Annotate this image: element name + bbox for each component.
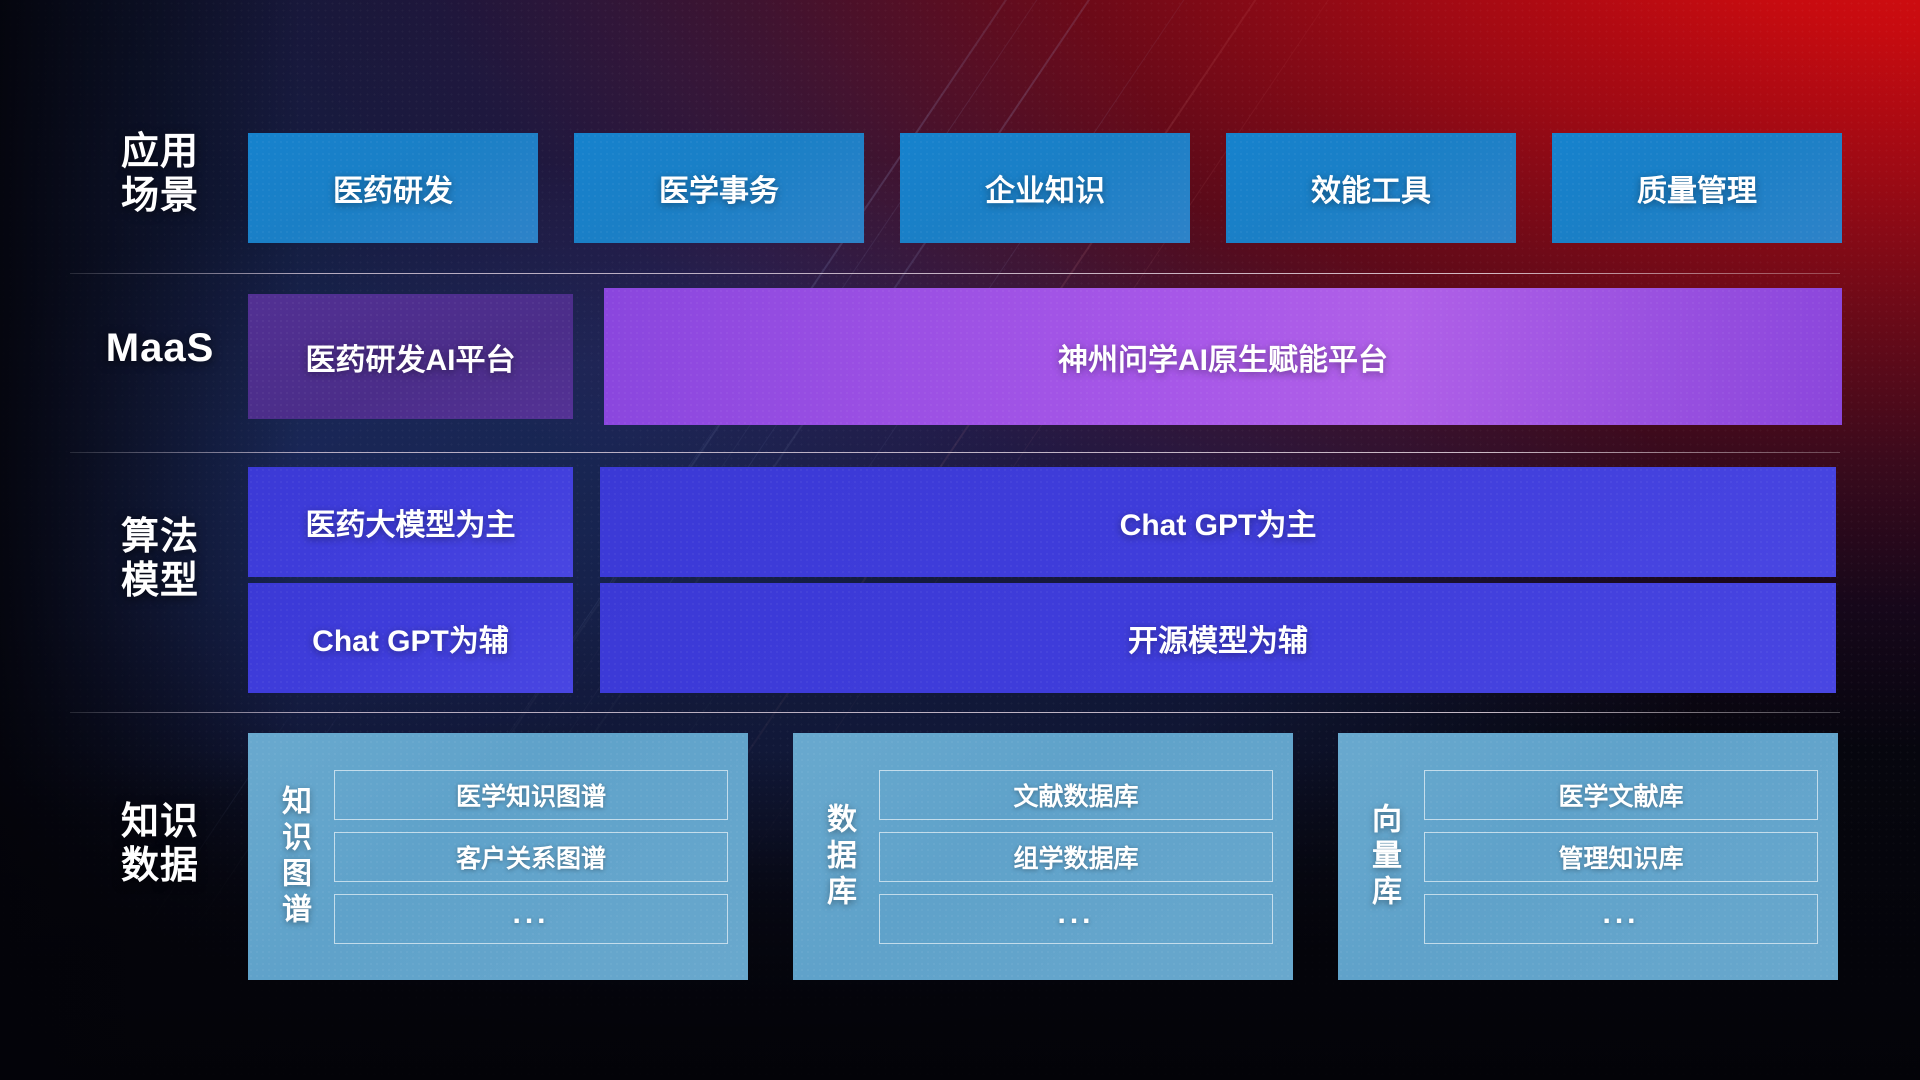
algo-card-chatgpt-secondary[interactable]: Chat GPT为辅 — [248, 583, 573, 693]
app-card-label: 质量管理 — [1637, 166, 1757, 210]
knowledge-item[interactable]: 管理知识库 — [1424, 832, 1818, 882]
algo-card-label: 医药大模型为主 — [306, 500, 516, 544]
app-card-label: 效能工具 — [1311, 166, 1431, 210]
knowledge-group-title: 知识图谱 — [266, 785, 320, 929]
row-label-knowledge-data: 知识 数据 — [70, 800, 250, 888]
row-label-line-1: 知识 — [70, 800, 250, 844]
algo-card-chatgpt-primary[interactable]: Chat GPT为主 — [600, 467, 1836, 577]
divider-after-algorithm — [70, 712, 1840, 713]
knowledge-item[interactable]: 客户关系图谱 — [334, 832, 728, 882]
knowledge-group-title: 数据库 — [811, 803, 865, 911]
knowledge-item[interactable]: 医学文献库 — [1424, 770, 1818, 820]
maas-card-pharma-ai-platform[interactable]: 医药研发AI平台 — [248, 294, 573, 419]
knowledge-group-items: 文献数据库 组学数据库 ... — [879, 770, 1273, 944]
knowledge-group-title: 向量库 — [1356, 803, 1410, 911]
divider-after-application — [70, 273, 1840, 274]
divider-after-maas — [70, 452, 1840, 453]
row-label-line-2: 模型 — [70, 559, 250, 603]
row-label-line-1: MaaS — [70, 325, 250, 371]
slide-canvas: 应用 场景 医药研发 医学事务 企业知识 效能工具 质量管理 MaaS — [0, 0, 1920, 1080]
row-label-line-2: 数据 — [70, 844, 250, 888]
row-label-application-scenarios: 应用 场景 — [70, 130, 250, 218]
row-label-line-1: 算法 — [70, 515, 250, 559]
row-label-maas: MaaS — [70, 325, 250, 371]
knowledge-item-more[interactable]: ... — [334, 894, 728, 944]
row-label-line-1: 应用 — [70, 130, 250, 174]
app-card-efficiency-tools[interactable]: 效能工具 — [1226, 133, 1516, 243]
knowledge-group-items: 医学知识图谱 客户关系图谱 ... — [334, 770, 728, 944]
app-card-enterprise-knowledge[interactable]: 企业知识 — [900, 133, 1190, 243]
app-card-label: 企业知识 — [985, 166, 1105, 210]
knowledge-item[interactable]: 组学数据库 — [879, 832, 1273, 882]
algo-card-open-source-secondary[interactable]: 开源模型为辅 — [600, 583, 1836, 693]
knowledge-item[interactable]: 文献数据库 — [879, 770, 1273, 820]
knowledge-item-more[interactable]: ... — [879, 894, 1273, 944]
app-card-quality-management[interactable]: 质量管理 — [1552, 133, 1842, 243]
diagram-content: 应用 场景 医药研发 医学事务 企业知识 效能工具 质量管理 MaaS — [0, 0, 1920, 1080]
algo-card-label: Chat GPT为主 — [1120, 500, 1317, 544]
row-label-line-2: 场景 — [70, 174, 250, 218]
algo-card-pharma-large-model-primary[interactable]: 医药大模型为主 — [248, 467, 573, 577]
app-card-label: 医学事务 — [659, 166, 779, 210]
app-card-label: 医药研发 — [333, 166, 453, 210]
knowledge-group-database[interactable]: 数据库 文献数据库 组学数据库 ... — [793, 733, 1293, 980]
maas-card-shenzhou-wenxue-platform[interactable]: 神州问学AI原生赋能平台 — [604, 288, 1842, 425]
knowledge-group-items: 医学文献库 管理知识库 ... — [1424, 770, 1818, 944]
app-card-medicine-rd[interactable]: 医药研发 — [248, 133, 538, 243]
knowledge-item[interactable]: 医学知识图谱 — [334, 770, 728, 820]
maas-card-label: 医药研发AI平台 — [306, 335, 516, 379]
algo-card-label: 开源模型为辅 — [1128, 616, 1308, 660]
maas-card-label: 神州问学AI原生赋能平台 — [1058, 335, 1388, 379]
knowledge-group-knowledge-graph[interactable]: 知识图谱 医学知识图谱 客户关系图谱 ... — [248, 733, 748, 980]
app-card-medical-affairs[interactable]: 医学事务 — [574, 133, 864, 243]
row-label-algorithm-model: 算法 模型 — [70, 515, 250, 603]
knowledge-item-more[interactable]: ... — [1424, 894, 1818, 944]
algo-card-label: Chat GPT为辅 — [312, 616, 509, 660]
knowledge-group-vector-store[interactable]: 向量库 医学文献库 管理知识库 ... — [1338, 733, 1838, 980]
